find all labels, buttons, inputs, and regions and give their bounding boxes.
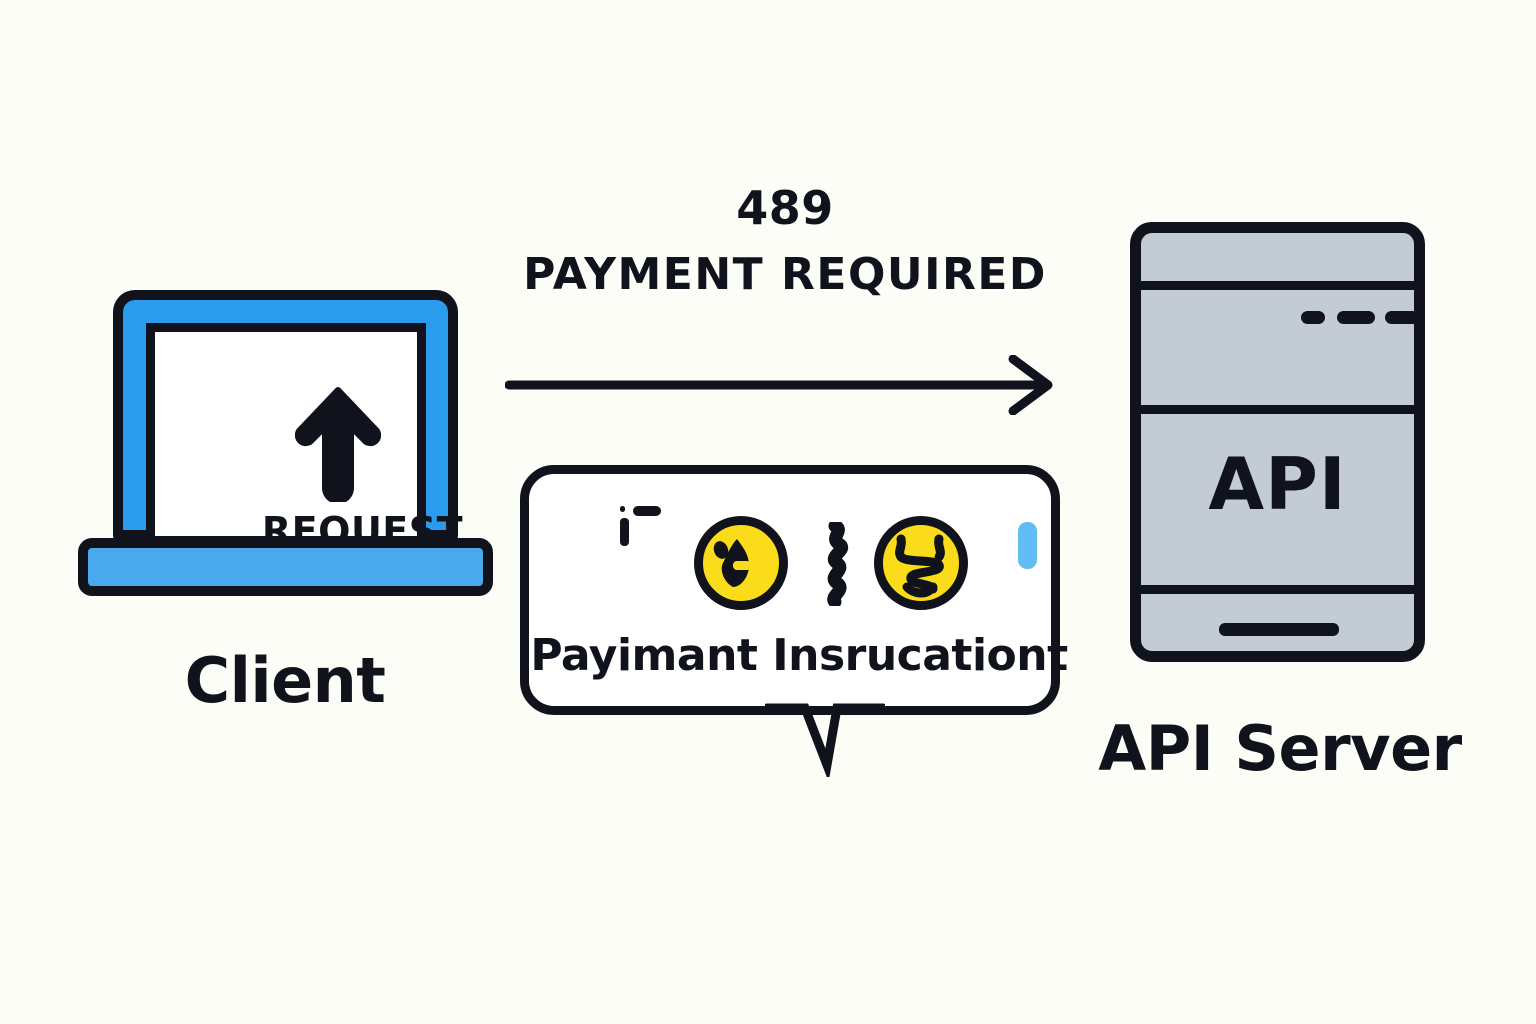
payment-instructions-bubble: Payimant Insrucationt — [520, 465, 1060, 775]
server-body: API — [1130, 222, 1425, 662]
price-tag-mark-icon — [617, 504, 665, 552]
bubble-text: Payimant Insrucationt — [529, 634, 1069, 678]
coin-left-icon — [694, 516, 788, 610]
server-vent-icon — [1301, 311, 1325, 324]
server-vent-icon — [1337, 311, 1375, 324]
laptop-base — [78, 538, 493, 596]
client-laptop: REQUEST — [78, 290, 493, 610]
api-server: API — [1130, 222, 1425, 662]
right-arrow-icon — [505, 355, 1065, 415]
status-block: 489 PAYMENT REQUIRED — [460, 185, 1110, 297]
status-code: 489 — [460, 185, 1110, 231]
server-divider-mid — [1141, 405, 1414, 414]
laptop-screen: REQUEST — [146, 323, 426, 545]
server-vent-icon — [1385, 311, 1423, 324]
up-arrow-icon — [295, 384, 381, 506]
server-divider-bottom — [1141, 585, 1414, 594]
coin-right-glyph-icon — [883, 525, 959, 605]
drive-slot-icon — [1219, 623, 1339, 636]
bubble-text-wrap: Payimant Insrucationt — [529, 634, 1069, 678]
bubble-body: Payimant Insrucationt — [520, 465, 1060, 715]
server-face-text-wrap: API — [1141, 448, 1414, 520]
bubble-tail-icon — [765, 703, 885, 781]
coin-left-glyph-icon — [703, 525, 779, 605]
diagram-canvas: REQUEST Client 489 PAYMENT REQUIRED — [0, 0, 1536, 1024]
server-face-text: API — [1141, 448, 1414, 520]
squiggle-glyph-icon — [819, 522, 855, 610]
client-label: Client — [75, 650, 495, 712]
coin-right-icon — [874, 516, 968, 610]
status-text: PAYMENT REQUIRED — [460, 253, 1110, 297]
api-server-label: API Server — [1065, 718, 1495, 780]
blue-pill-indicator-icon — [1018, 522, 1037, 569]
server-divider-top — [1141, 281, 1414, 290]
